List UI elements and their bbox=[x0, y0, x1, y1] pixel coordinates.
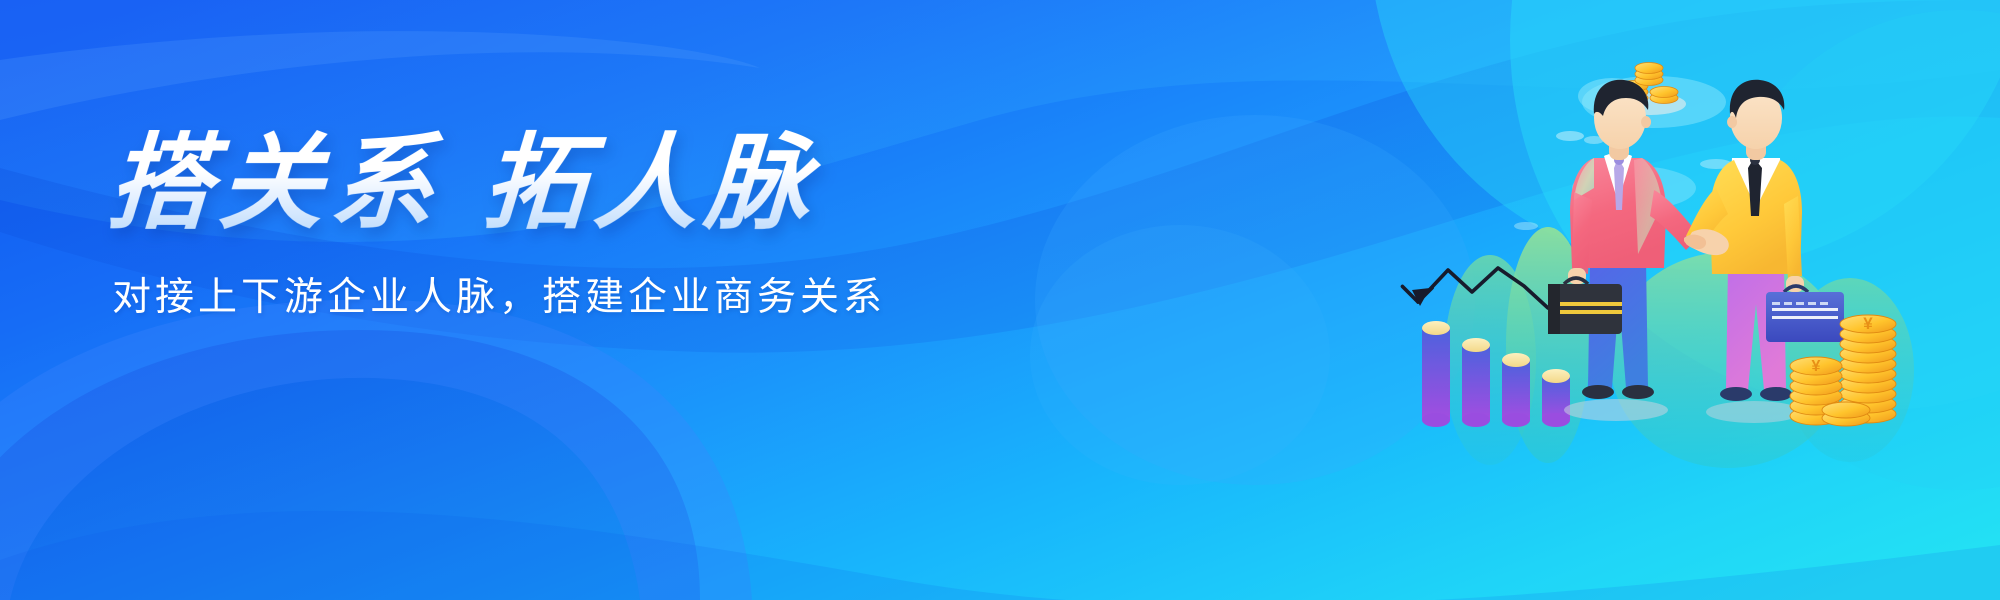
blue-briefcase bbox=[1766, 286, 1844, 342]
bar-1 bbox=[1422, 321, 1450, 427]
ground-shadow-right bbox=[1706, 401, 1802, 423]
coin-symbol-2: ¥ bbox=[1812, 358, 1821, 375]
left-person-ear bbox=[1641, 116, 1651, 128]
right-person-ear bbox=[1727, 116, 1737, 128]
headline-part-1: 搭关系 bbox=[105, 126, 444, 242]
bar-3 bbox=[1502, 353, 1530, 427]
shoe-right-1 bbox=[1720, 387, 1752, 401]
blob-mid-soft-2 bbox=[1030, 225, 1330, 485]
coin-stack-low bbox=[1822, 402, 1870, 426]
headline-part-2: 拓人脉 bbox=[480, 126, 819, 242]
shoe-right-2 bbox=[1760, 387, 1792, 401]
black-briefcase bbox=[1548, 278, 1622, 334]
banner-subtitle: 对接上下游企业人脉，搭建企业商务关系 bbox=[112, 266, 886, 322]
bar-2 bbox=[1462, 338, 1490, 427]
cloud-wisp-4 bbox=[1514, 222, 1538, 230]
shoe-left-2 bbox=[1622, 385, 1654, 399]
ground-shadow-left bbox=[1564, 399, 1668, 421]
cloud-wisp-1 bbox=[1556, 131, 1584, 141]
businessmen-handshake-illustration: ¥ ¥ bbox=[1398, 40, 1958, 420]
coin-symbol-1: ¥ bbox=[1863, 314, 1873, 333]
promo-banner: 搭关系拓人脉 对接上下游企业人脉，搭建企业商务关系 bbox=[0, 0, 2000, 600]
page-title: 搭关系拓人脉 bbox=[105, 128, 889, 240]
hero-illustration: ¥ ¥ bbox=[1398, 40, 1958, 420]
bar-4 bbox=[1542, 369, 1570, 427]
banner-text-block: 搭关系拓人脉 对接上下游企业人脉，搭建企业商务关系 bbox=[108, 128, 886, 322]
shoe-left-1 bbox=[1582, 385, 1614, 399]
